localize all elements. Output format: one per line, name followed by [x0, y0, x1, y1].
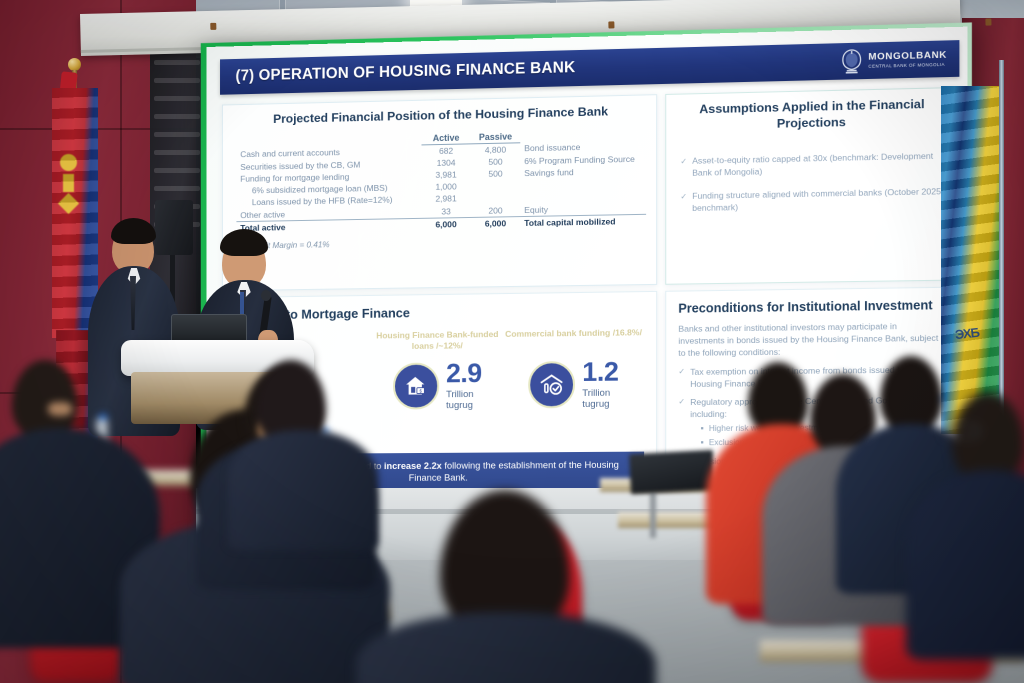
assumption-text: Asset-to-equity ratio capped at 30x (ben…: [692, 150, 944, 179]
financial-position-title: Projected Financial Position of the Hous…: [236, 103, 646, 128]
row-active-value: 1304: [421, 156, 470, 169]
mortgage-stat: Housing Finance Bank-funded loans /~12%/…: [370, 329, 505, 412]
row-active-value: 1,000: [421, 180, 470, 193]
row-active-value: 33: [421, 204, 470, 218]
audience-laptop: [629, 450, 715, 494]
eyeglasses-icon: [944, 424, 980, 438]
row-passive-value: 500: [471, 167, 521, 180]
row-active-value: 682: [421, 143, 470, 157]
stat-caption: Housing Finance Bank-funded loans /~12%/: [370, 329, 505, 354]
mongolbank-soyombo-emblem-icon: [840, 48, 864, 74]
brand-name: MONGOLBANK: [868, 51, 947, 63]
stat-number: 2.9: [446, 360, 482, 387]
row-active-value: 6,000: [421, 217, 470, 231]
row-passive-value: 200: [471, 204, 521, 218]
bank-check-icon: [529, 361, 576, 408]
assumption-text: Funding structure aligned with commercia…: [692, 186, 944, 215]
assumptions-panel: Assumptions Applied in the Financial Pro…: [665, 87, 959, 285]
assumption-item: ✓Funding structure aligned with commerci…: [680, 186, 944, 215]
row-passive-value: [471, 191, 521, 204]
stat-number: 1.2: [582, 359, 618, 386]
row-label: Total active: [236, 218, 421, 234]
stat-caption: Commercial bank funding /16.8%/: [505, 327, 642, 353]
assumptions-list: ✓Asset-to-equity ratio capped at 30x (be…: [680, 150, 944, 214]
stat-value-row: $2.9Trilliontugrug: [370, 360, 505, 413]
assumption-item: ✓Asset-to-equity ratio capped at 30x (be…: [680, 150, 944, 179]
banner-highlight: increase 2.2x: [384, 459, 442, 470]
row-passive-label: Total capital mobilized: [520, 214, 646, 229]
conference-room-photo: (7) OPERATION OF HOUSING FINANCE BANK: [0, 0, 1024, 683]
mongolbank-logo: MONGOLBANK CENTRAL BANK OF MONGOLIA: [840, 46, 947, 74]
financial-position-table: Active Passive Cash and current accounts…: [236, 128, 646, 234]
row-active-value: 3,981: [421, 168, 470, 181]
bullet-icon: ▪: [701, 423, 704, 435]
access-title: Access to Mortgage Finance: [233, 302, 647, 322]
microphone-head: [261, 290, 271, 301]
stat-value-block: 1.2Trilliontugrug: [582, 359, 618, 411]
assumptions-title: Assumptions Applied in the Financial Pro…: [680, 96, 944, 133]
checkmark-icon: ✓: [678, 396, 685, 420]
stat-unit: Trilliontugrug: [582, 388, 618, 411]
house-money-icon: $: [393, 363, 439, 410]
row-passive-value: [471, 179, 521, 192]
stat-unit: Trilliontugrug: [446, 389, 482, 412]
preconditions-intro: Banks and other institutional investors …: [678, 319, 946, 359]
row-passive-value: 500: [471, 155, 521, 168]
checkmark-icon: ✓: [680, 191, 687, 215]
row-passive-value: 4,800: [471, 142, 521, 156]
row-active-value: 2,981: [421, 192, 470, 205]
stat-value-block: 2.9Trilliontugrug: [446, 360, 482, 412]
mortgage-stat: Commercial bank funding /16.8%/1.2Trilli…: [505, 327, 642, 411]
slide-title-bar: (7) OPERATION OF HOUSING FINANCE BANK: [220, 40, 959, 95]
row-passive-value: 6,000: [471, 216, 521, 230]
preconditions-title: Preconditions for Institutional Investme…: [678, 298, 946, 316]
slide-title: (7) OPERATION OF HOUSING FINANCE BANK: [235, 59, 575, 85]
checkmark-icon: ✓: [678, 366, 685, 390]
financial-position-panel: Projected Financial Position of the Hous…: [222, 94, 657, 291]
brand-tagline: CENTRAL BANK OF MONGOLIA: [868, 62, 947, 68]
table-leg: [650, 492, 656, 538]
loudspeaker: [155, 200, 193, 255]
checkmark-icon: ✓: [680, 156, 687, 180]
net-profit-margin-note: Net Profit Margin = 0.41%: [236, 234, 646, 251]
bullet-icon: ▪: [701, 438, 704, 450]
stat-value-row: 1.2Trilliontugrug: [505, 358, 642, 411]
